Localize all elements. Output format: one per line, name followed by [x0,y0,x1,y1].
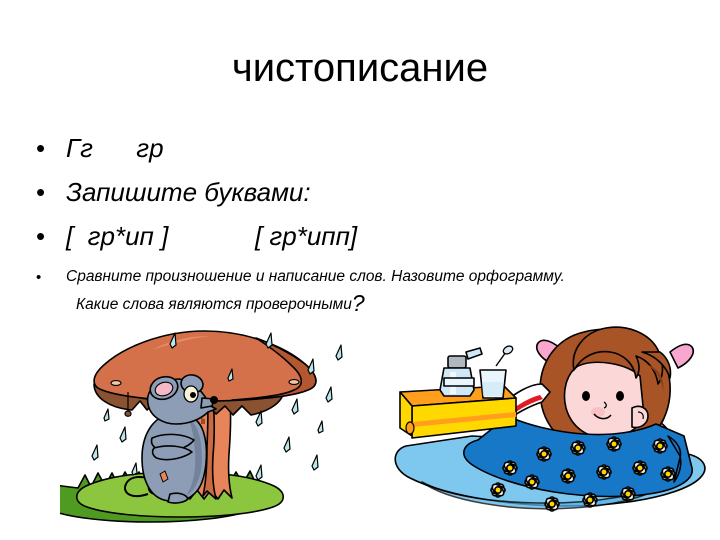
list-item: • Сравните произношение и написание слов… [36,264,696,290]
boy-eye-right [616,391,624,401]
bullet-marker-icon: • [36,172,66,205]
bullet-list: • Гг гр • Запишите буквами: • [ гр*ип ] … [36,128,696,320]
page-title: чистописание [0,45,720,91]
list-item-label: Запишите буквами: [66,172,311,212]
list-item-label: Какие слова являются проверочными [76,290,352,320]
sick-boy-in-bed-image [392,304,720,536]
list-item-label: Сравните произношение и написание слов. … [66,264,565,290]
list-item: • [ гр*ип ] [ гр*ипп] [36,216,696,260]
list-item: • Гг гр [36,128,696,172]
slide-canvas: чистописание • Гг гр • Запишите буквами:… [0,0,720,540]
mushroom-cap [94,331,316,401]
question-mark: ? [352,290,365,317]
drawer-knob [406,422,414,434]
list-item-label: Гг гр [66,128,164,168]
bullet-marker-icon: • [36,216,66,249]
mouse-under-mushroom-image [60,326,350,526]
bullet-marker-icon: • [36,264,66,285]
list-item: • Запишите буквами: [36,172,696,216]
list-item-label: [ гр*ип ] [ гр*ипп] [66,216,357,256]
bullet-marker-icon: • [36,128,66,161]
boy-eye-left [582,391,590,401]
mouse-eye [184,386,198,402]
